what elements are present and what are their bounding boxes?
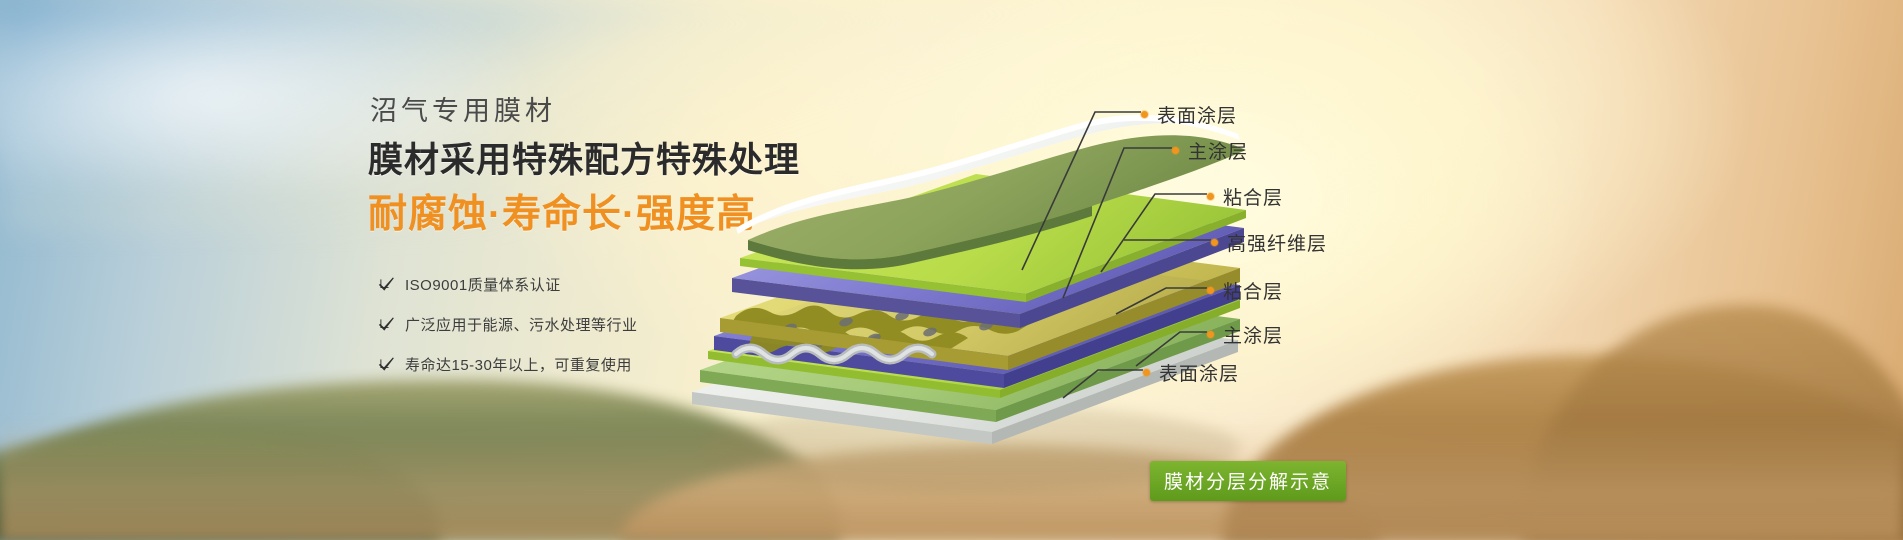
callout-adhesive-bottom: 粘合层 (1207, 277, 1283, 304)
callout-label-text: 主涂层 (1223, 321, 1283, 348)
diagram-caption-badge: 膜材分层分解示意 (1150, 461, 1346, 501)
callout-label-text: 主涂层 (1188, 137, 1248, 164)
bullet-dot-icon (1207, 287, 1214, 294)
bullet-dot-icon (1211, 239, 1218, 246)
callout-label-text: 表面涂层 (1159, 359, 1239, 386)
callout-label-group: 表面涂层 主涂层 粘合层 高强纤维层 粘合层 主涂层 表面涂层 (0, 0, 1903, 540)
callout-high-strength-fiber: 高强纤维层 (1211, 229, 1327, 256)
callout-label-text: 粘合层 (1223, 183, 1283, 210)
promo-banner: 沼气专用膜材 膜材采用特殊配方特殊处理 耐腐蚀·寿命长·强度高 ISO9001质… (0, 0, 1903, 540)
callout-label-text: 表面涂层 (1157, 101, 1237, 128)
callout-label-text: 粘合层 (1223, 277, 1283, 304)
bullet-dot-icon (1172, 147, 1179, 154)
callout-main-coat-bottom: 主涂层 (1207, 321, 1283, 348)
bullet-dot-icon (1141, 111, 1148, 118)
bullet-dot-icon (1207, 331, 1214, 338)
callout-surface-coating-bottom: 表面涂层 (1143, 359, 1239, 386)
callout-label-text: 高强纤维层 (1227, 229, 1327, 256)
callout-surface-coating-top: 表面涂层 (1141, 101, 1237, 128)
callout-adhesive-top: 粘合层 (1207, 183, 1283, 210)
bullet-dot-icon (1143, 369, 1150, 376)
callout-main-coat-top: 主涂层 (1172, 137, 1248, 164)
bullet-dot-icon (1207, 193, 1214, 200)
